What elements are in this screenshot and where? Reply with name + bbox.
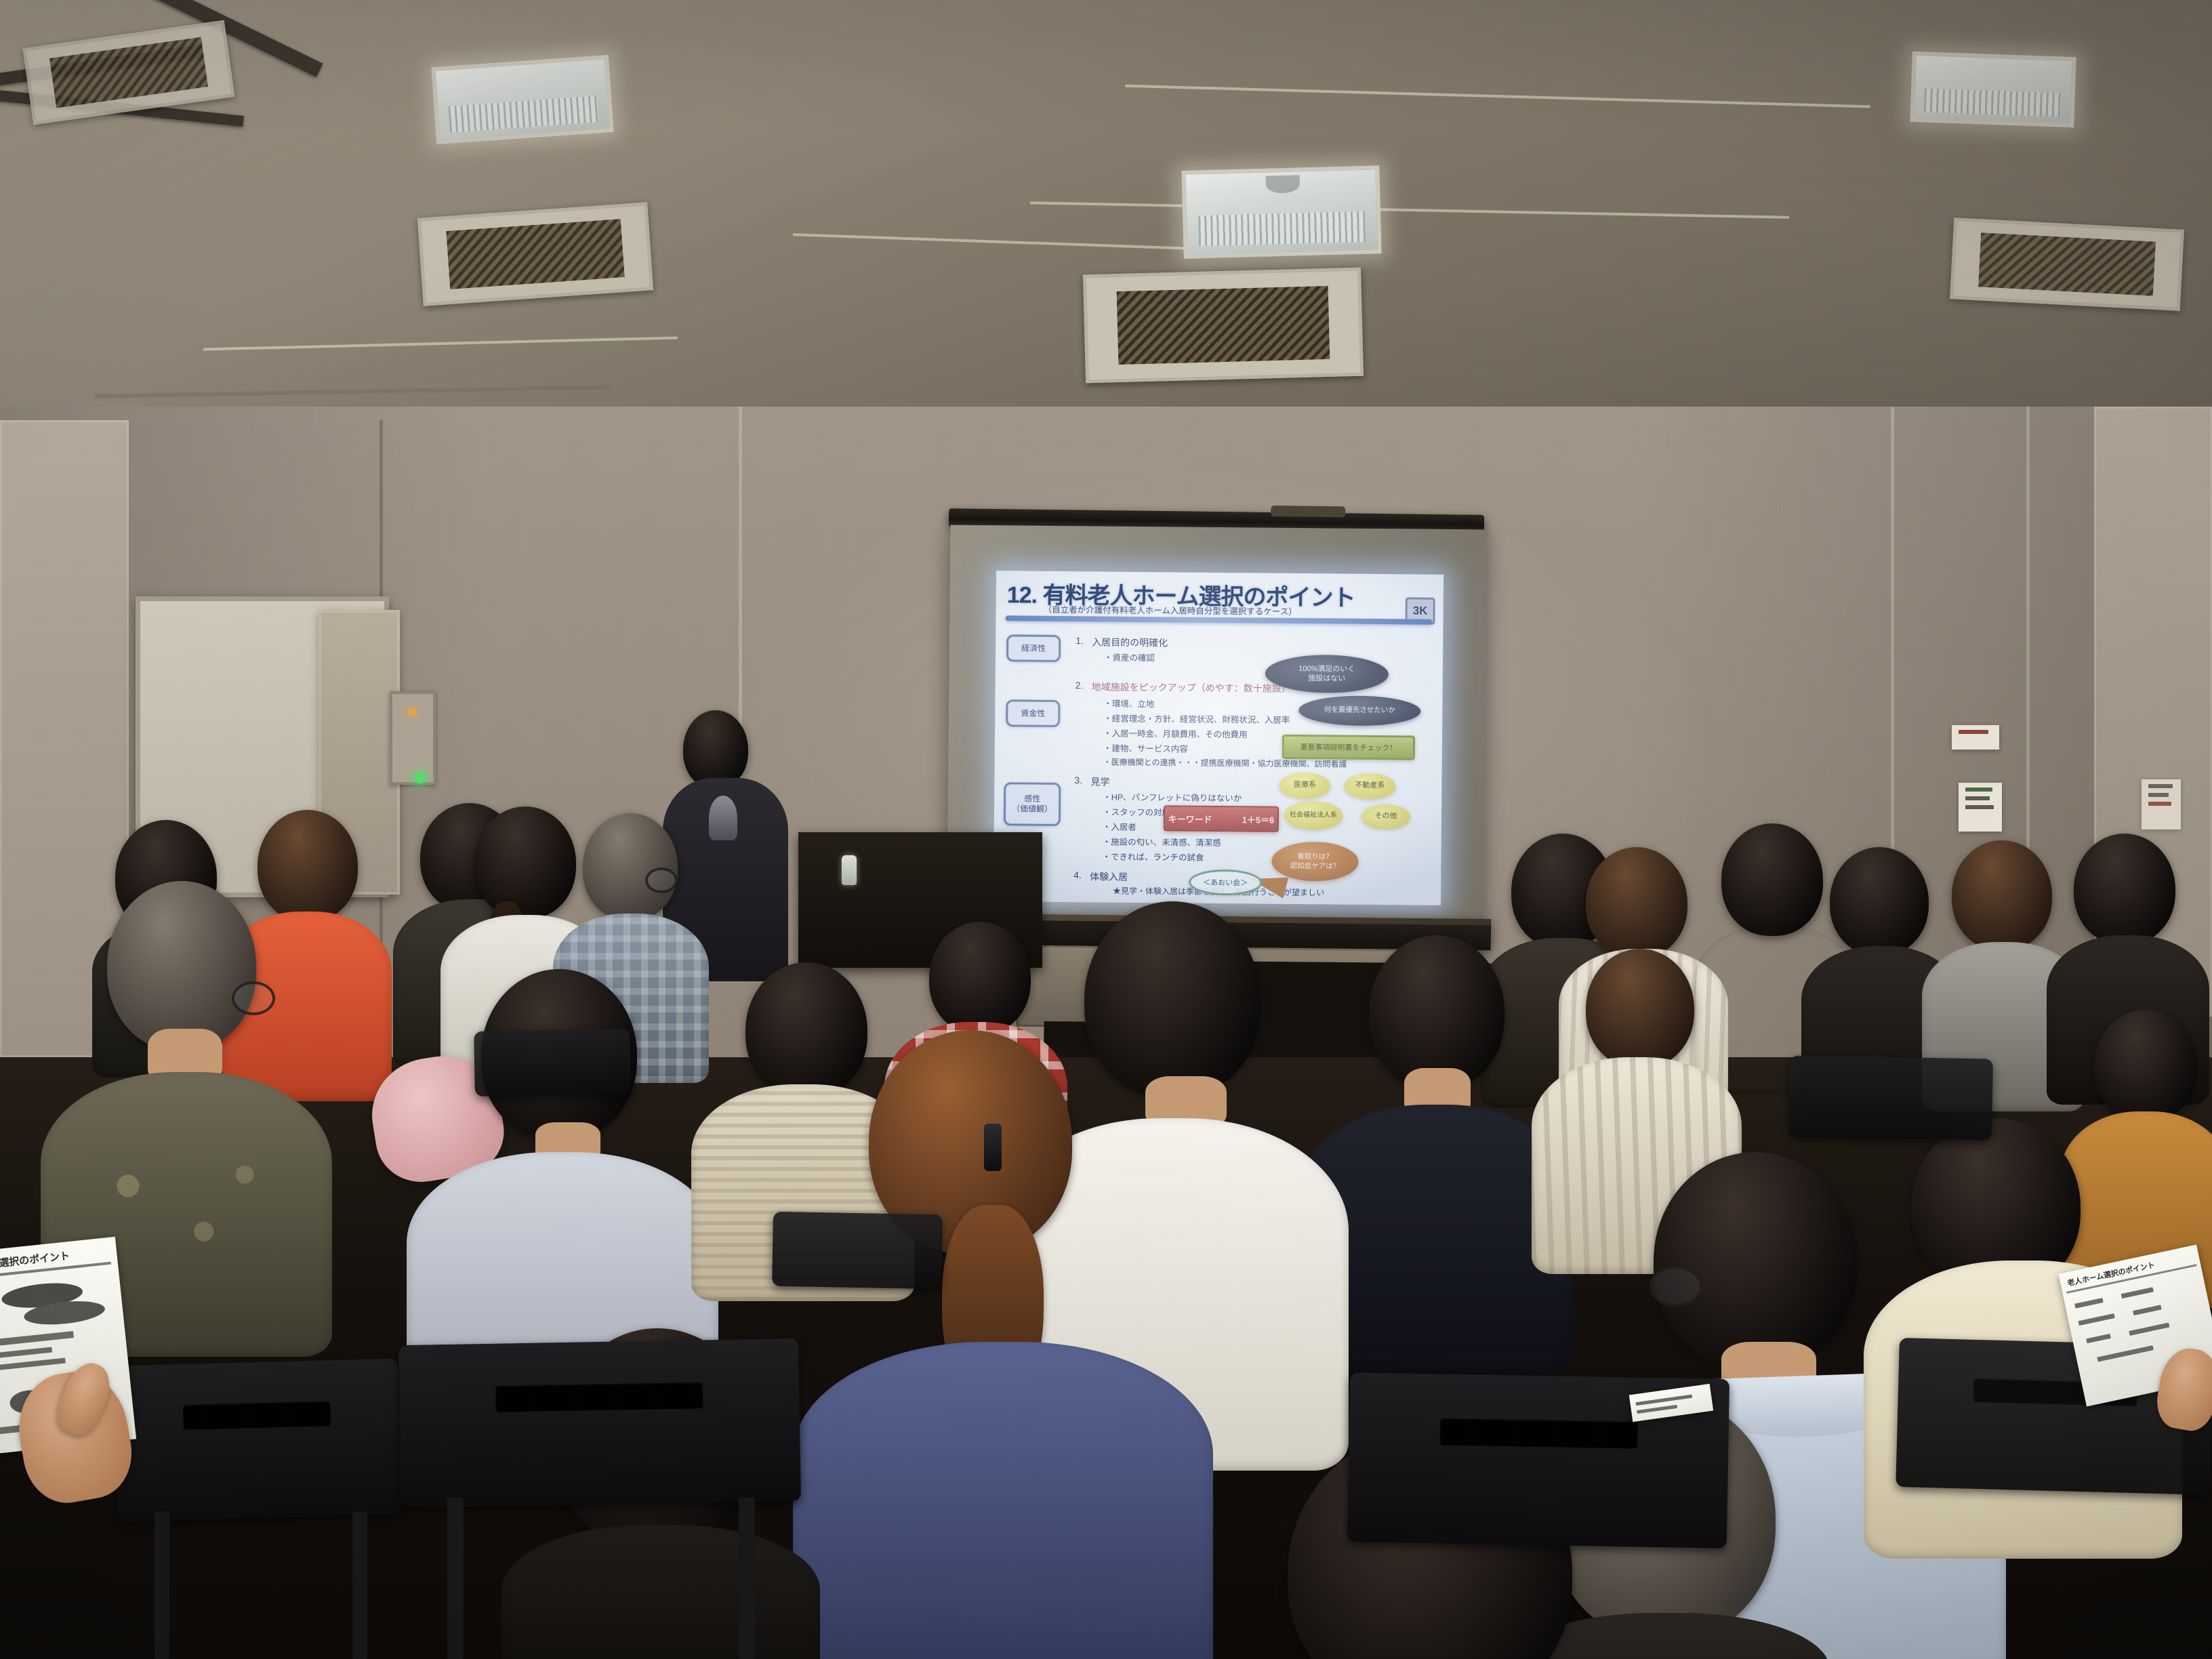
notice-line xyxy=(1965,805,1994,809)
notice-line xyxy=(2148,802,2171,806)
light-slats xyxy=(1924,88,2062,117)
chair-mid-right xyxy=(772,1212,943,1289)
head xyxy=(1369,935,1504,1090)
slide-keyword-box: キーワード 1＋5＝6 xyxy=(1164,805,1279,832)
handout-right-row xyxy=(2074,1298,2104,1309)
vent-grille xyxy=(1978,233,2155,296)
head xyxy=(474,806,576,919)
glasses-icon xyxy=(645,867,678,893)
handout-row xyxy=(1635,1395,1692,1406)
handout-left-row xyxy=(0,1331,74,1347)
status-led-green xyxy=(415,773,426,783)
handout-left-row xyxy=(0,1358,66,1371)
chair-leg xyxy=(352,1511,367,1659)
wall-notice-upper xyxy=(1952,725,1999,750)
status-led-amber xyxy=(407,708,417,717)
head xyxy=(1084,901,1261,1098)
light-dome xyxy=(1265,175,1300,193)
vent-grille xyxy=(447,219,625,289)
callout-line-1: 100%満足のいく xyxy=(1298,664,1355,674)
head xyxy=(583,813,678,920)
chair-handle-slot xyxy=(182,1401,331,1430)
head xyxy=(2094,1010,2197,1122)
slide-tag-economy: 経済性 xyxy=(1006,634,1061,662)
slide-item-4-heading: 体験入居 xyxy=(1090,869,1128,883)
chair-leg xyxy=(447,1498,464,1659)
slide-item-2-bullet-2: ・経営理念・方針、経営状況、財務状況、入居率 xyxy=(1103,712,1290,726)
slide-item-2-heading: 地域施設をピックアップ（めやす：数十施設） xyxy=(1092,680,1291,695)
glasses-icon xyxy=(232,981,275,1015)
slide-item-2-bullet-3: ・入居一時金、月額費用、その他費用 xyxy=(1103,726,1248,741)
slide-item-1-number: 1. xyxy=(1076,635,1084,646)
slide-item-1-heading: 入居目的の明確化 xyxy=(1092,635,1168,649)
hair-clip xyxy=(984,1124,1002,1171)
handout-left-row xyxy=(0,1347,52,1359)
glasses-icon xyxy=(1650,1266,1702,1307)
notice-line xyxy=(2148,784,2173,788)
notice-line xyxy=(1959,730,1988,734)
slide-item-2-bullet-4: ・建物、サービス内容 xyxy=(1103,741,1188,755)
chair-back-left-1 xyxy=(113,1359,402,1522)
keyword-label: キーワード xyxy=(1168,812,1212,825)
head xyxy=(1586,847,1687,958)
light-slats xyxy=(1198,211,1366,246)
chair-handle-slot xyxy=(1440,1418,1638,1448)
chair-mid-left xyxy=(474,1029,631,1097)
head xyxy=(258,810,358,922)
tag-line-1: 感性 xyxy=(1024,794,1040,804)
wall-notice-far-right xyxy=(2142,779,2181,829)
slide-item-4-number: 4. xyxy=(1073,869,1082,880)
handout-right-row xyxy=(2121,1287,2154,1298)
handout-right-row xyxy=(2078,1313,2115,1326)
head xyxy=(2074,834,2175,945)
chair-leg xyxy=(155,1511,169,1659)
head xyxy=(107,881,256,1050)
roller-knob xyxy=(1271,506,1345,517)
slide-item-2-number: 2. xyxy=(1076,680,1084,691)
vent-grille xyxy=(49,37,208,108)
callout-line-2: 施設はない xyxy=(1308,674,1345,684)
tag-line-1: 経済性 xyxy=(1021,643,1046,653)
light-slats xyxy=(448,96,598,132)
ceiling-light-panel-center xyxy=(1181,165,1381,259)
notice-line xyxy=(1965,787,1992,792)
ceiling xyxy=(0,0,2212,468)
slide-item-3-heading: 見学 xyxy=(1090,775,1109,788)
av-control-panel xyxy=(390,691,436,785)
slide-item-3-number: 3. xyxy=(1074,775,1082,785)
bubble-line-2: 認知症ケアは？ xyxy=(1290,861,1340,872)
head xyxy=(1586,949,1694,1068)
slide-content: 12. 有料老人ホーム選択のポイント 3K （自立者が介護付有料老人ホーム入居時… xyxy=(994,571,1443,905)
presenter-blouse xyxy=(709,796,737,840)
ceiling-light-panel-left xyxy=(431,55,613,144)
slide-oval-other: その他 xyxy=(1361,804,1410,829)
head xyxy=(929,922,1031,1034)
slide-title-rule xyxy=(1005,615,1432,624)
water-bottle xyxy=(842,855,857,885)
ceiling-air-vent-topright xyxy=(1950,218,2184,311)
handout-row xyxy=(1637,1405,1677,1414)
seminar-room-photo: 12. 有料老人ホーム選択のポイント 3K （自立者が介護付有料老人ホーム入居時… xyxy=(0,0,2212,1659)
head xyxy=(1952,840,2052,950)
wall-notice-lower xyxy=(1959,783,2002,832)
slide-tag-sensibility: 感性 （価値観） xyxy=(1004,782,1061,826)
handout-right-row xyxy=(2129,1323,2169,1336)
head xyxy=(1654,1152,1857,1369)
head xyxy=(1830,847,1929,956)
tag-line-2: （価値観） xyxy=(1012,804,1052,815)
ceiling-light-panel-right xyxy=(1910,52,2076,127)
head xyxy=(745,962,867,1098)
callout-line-1: 何を最優先させたいか xyxy=(1324,706,1395,716)
slide-oval-welfare: 社会福祉法人系 xyxy=(1284,801,1343,830)
presenter-head xyxy=(683,710,748,789)
ceiling-air-vent-left xyxy=(417,202,653,306)
slide-item-3-bullet-3: ・入居者 xyxy=(1103,820,1136,833)
slide-item-3-bullet-1: ・HP、パンフレットに偽りはないか xyxy=(1103,790,1242,804)
body xyxy=(501,1525,820,1659)
slide-item-3-bullet-4: ・施設の匂い、未清感、清潔感 xyxy=(1103,835,1221,849)
ceiling-air-vent-center xyxy=(1083,268,1364,384)
slide-subtitle: （自立者が介護付有料老人ホーム入居時自分型を選択するケース） xyxy=(1044,602,1297,617)
slide-callout-green-box: 重要事項説明書をチェック！ xyxy=(1282,735,1415,760)
slide-speech-bubble: 看取りは？ 認知症ケアは？ xyxy=(1271,842,1359,882)
head xyxy=(1721,823,1823,936)
slide-tag-funding: 資金性 xyxy=(1006,699,1060,727)
chair-leg xyxy=(739,1498,755,1659)
slide-item-3-bullet-2: ・スタッフの対応 xyxy=(1103,805,1170,819)
tag-line-1: 資金性 xyxy=(1021,708,1045,718)
notice-line xyxy=(2148,793,2169,797)
handout-right-row xyxy=(2133,1305,2162,1315)
slide-item-2-bullet-1: ・環境、立地 xyxy=(1103,697,1154,710)
slide-oval-realestate: 不動産系 xyxy=(1344,773,1395,800)
handout-right-row xyxy=(2086,1334,2111,1343)
handout-right-row xyxy=(2097,1345,2154,1361)
slide-callout-ellipse-2: 何を最優先させたいか xyxy=(1298,695,1420,726)
notice-line xyxy=(1965,796,1990,800)
chair-mid-right-2 xyxy=(1788,1055,1993,1140)
slide-item-1-bullet-1: ・資産の確認 xyxy=(1104,651,1155,664)
vent-grille xyxy=(1117,286,1330,365)
chair-left-2 xyxy=(398,1338,801,1508)
keyword-formula: 1＋5＝6 xyxy=(1242,813,1275,825)
bubble-line-1: 看取りは？ xyxy=(1297,852,1333,862)
slide-oval-medical: 医療系 xyxy=(1279,773,1330,799)
slide-item-3-bullet-5: ・できれば、ランチの試食 xyxy=(1102,850,1204,863)
chair-handle-slot xyxy=(495,1382,703,1412)
body-blue-blouse xyxy=(793,1342,1213,1659)
